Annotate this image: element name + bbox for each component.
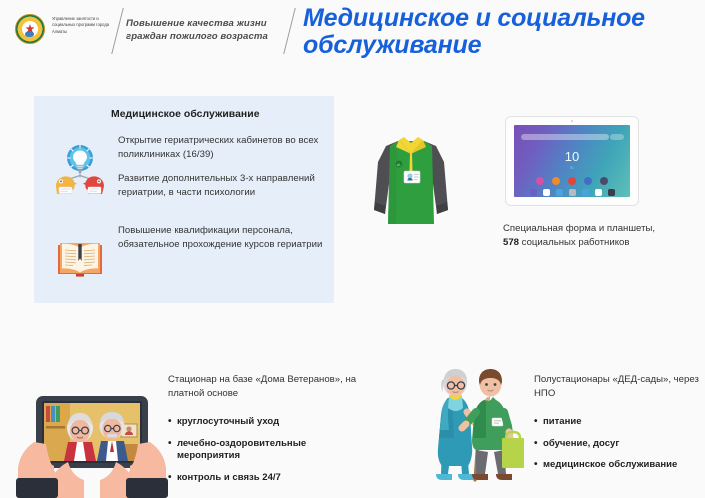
green-polo-shirt-with-badge-icon: AL bbox=[372, 132, 450, 227]
tablet-app-row-2 bbox=[514, 189, 630, 196]
tablet-date: ☉ bbox=[514, 165, 630, 170]
list-item: контроль и связь 24/7 bbox=[168, 472, 358, 485]
tablet-clock: 10 bbox=[514, 149, 630, 164]
tablet-device-icon: 10 ☉ bbox=[506, 117, 638, 205]
list-item: лечебно-оздоровительные мероприятия bbox=[168, 438, 358, 464]
inpatient-care-block: Стационар на базе «Дома Ветеранов», на п… bbox=[168, 373, 358, 494]
organization-name: Управление занятости и социальных програ… bbox=[52, 16, 114, 35]
social-workers-count: 578 bbox=[503, 237, 519, 248]
slide-root: Управление занятости и социальных програ… bbox=[0, 0, 705, 498]
tablet-camera-icon bbox=[571, 120, 573, 122]
list-item: медицинское обслуживание bbox=[534, 459, 705, 472]
uniform-tablet-caption: Специальная форма и планшеты, 578 социал… bbox=[503, 222, 703, 250]
list-item: круглосуточный уход bbox=[168, 416, 358, 429]
caregiver-helping-elderly-woman-icon bbox=[418, 356, 530, 488]
idea-lightbulb-heads-icon bbox=[52, 142, 108, 198]
header-subtitle: Повышение качества жизни граждан пожилог… bbox=[126, 17, 286, 43]
tablet-screen: 10 ☉ bbox=[514, 125, 630, 197]
card-body: Открытие гериатрических кабинетов во все… bbox=[118, 134, 330, 263]
almaty-department-emblem-icon bbox=[15, 14, 45, 44]
day-care-bullets: питание обучение, досуг медицинское обсл… bbox=[534, 416, 705, 472]
slide-header: Управление занятости и социальных програ… bbox=[0, 0, 705, 62]
tablet-search-bar bbox=[521, 134, 609, 140]
card-item-2: Развитие дополнительных 3-х направлений … bbox=[118, 172, 330, 199]
card-item-3: Повышение квалификации персонала, обязат… bbox=[118, 224, 330, 251]
list-item: питание bbox=[534, 416, 705, 429]
inpatient-care-heading: Стационар на базе «Дома Ветеранов», на п… bbox=[168, 373, 358, 401]
list-item: обучение, досуг bbox=[534, 438, 705, 451]
card-title: Медицинское обслуживание bbox=[111, 109, 260, 120]
inpatient-care-bullets: круглосуточный уход лечебно-оздоровитель… bbox=[168, 416, 358, 485]
caption-line-1: Специальная форма и планшеты, bbox=[503, 223, 655, 234]
tablet-status-chip bbox=[610, 134, 624, 140]
tablet-app-row-1 bbox=[514, 177, 630, 185]
day-care-heading: Полустационары «ДЕД-сады», через НПО bbox=[534, 373, 705, 401]
hands-holding-tablet-video-call-icon bbox=[8, 382, 176, 498]
day-care-block: Полустационары «ДЕД-сады», через НПО пит… bbox=[534, 373, 705, 481]
card-item-1: Открытие гериатрических кабинетов во все… bbox=[118, 134, 330, 161]
svg-text:AL: AL bbox=[397, 163, 401, 167]
page-title: Медицинское и социальное обслуживание bbox=[303, 5, 703, 59]
open-book-icon bbox=[56, 236, 104, 280]
caption-line-2: социальных работников bbox=[519, 237, 629, 248]
